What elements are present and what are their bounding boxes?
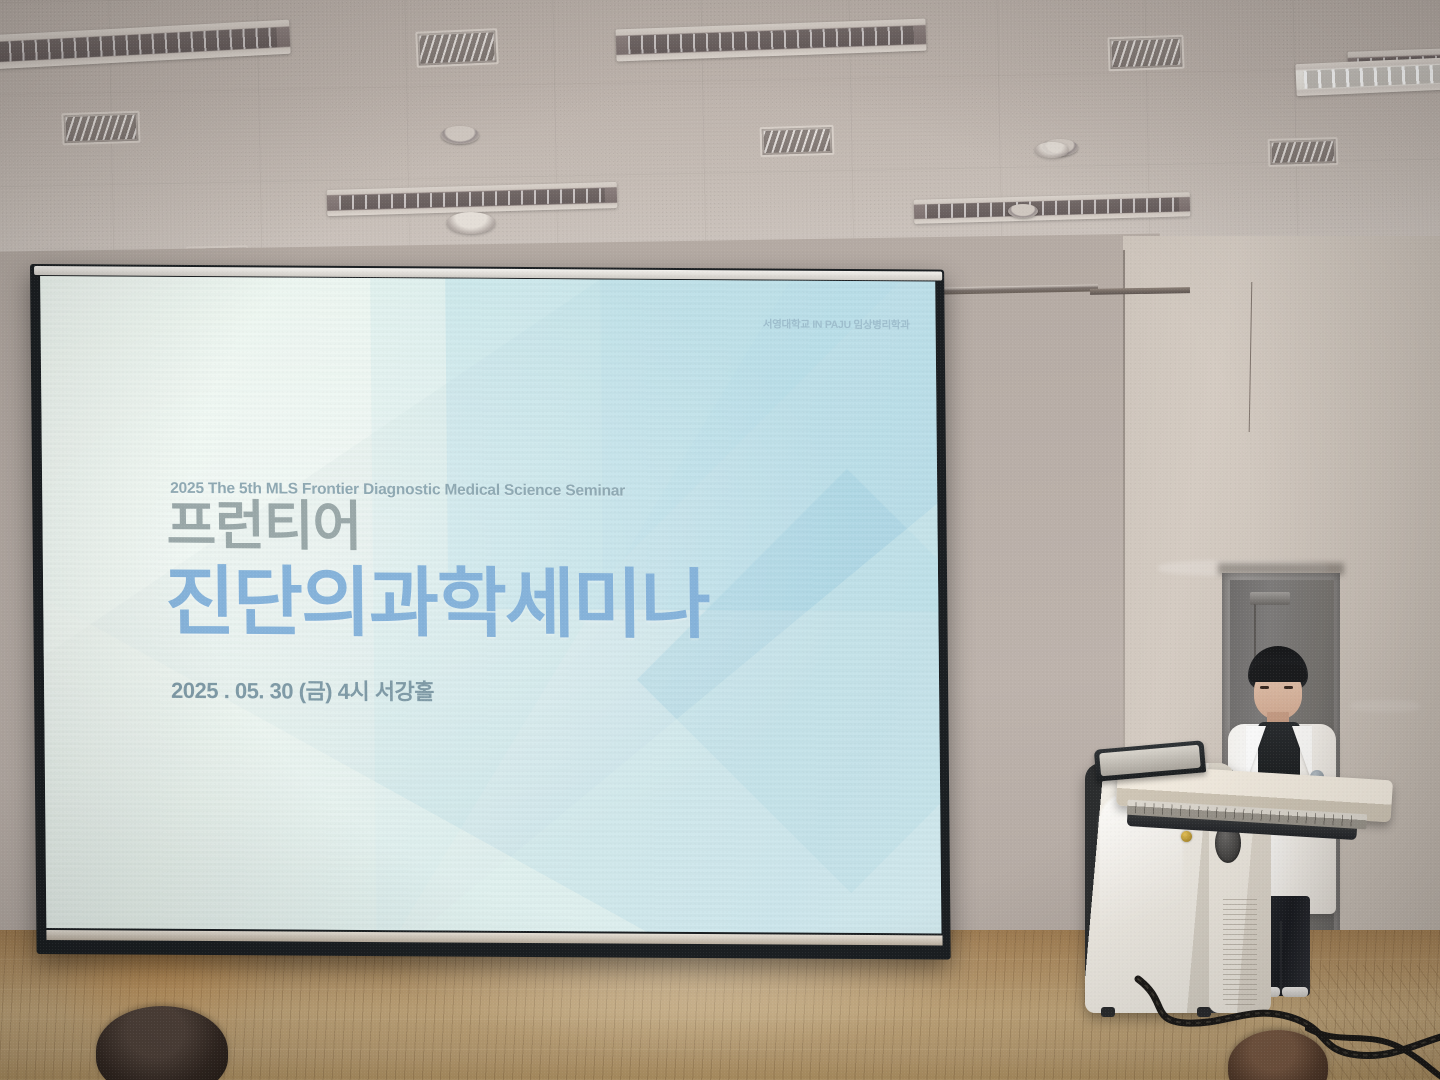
slide-organization-label: 서영대학교 IN PAJU 임상병리학과 [763, 316, 910, 332]
projection-screen[interactable]: 서영대학교 IN PAJU 임상병리학과 2025 The 5th MLS Fr… [30, 264, 951, 960]
air-vent [61, 111, 140, 146]
slide-main-title: 진단의과학세미나 [165, 565, 709, 644]
ceiling-speaker [441, 126, 479, 144]
air-vent [760, 125, 835, 157]
lectern-caster [1101, 1007, 1115, 1017]
presenter-fringe [1249, 664, 1307, 682]
slide-kicker-text: 프런티어 [166, 499, 361, 554]
monitor-screen [1099, 745, 1201, 777]
air-vent [1268, 137, 1339, 167]
ceiling-dome [447, 212, 495, 234]
ceiling-speaker [1008, 204, 1038, 218]
presenter-eye [1284, 686, 1293, 689]
air-vent [1107, 35, 1184, 72]
air-vent [415, 28, 499, 68]
presenter-eye [1260, 686, 1269, 689]
door-closer-icon [1250, 592, 1290, 605]
lecture-hall-photo: 서영대학교 IN PAJU 임상병리학과 2025 The 5th MLS Fr… [0, 0, 1440, 1080]
presentation-slide[interactable]: 서영대학교 IN PAJU 임상병리학과 2025 The 5th MLS Fr… [40, 276, 941, 933]
wall-patch [1350, 700, 1420, 712]
ceiling-dome [1035, 142, 1069, 158]
lectern-emblem-icon [1181, 831, 1192, 842]
slide-date-venue: 2025 . 05. 30 (금) 4시 서강홀 [171, 673, 434, 707]
